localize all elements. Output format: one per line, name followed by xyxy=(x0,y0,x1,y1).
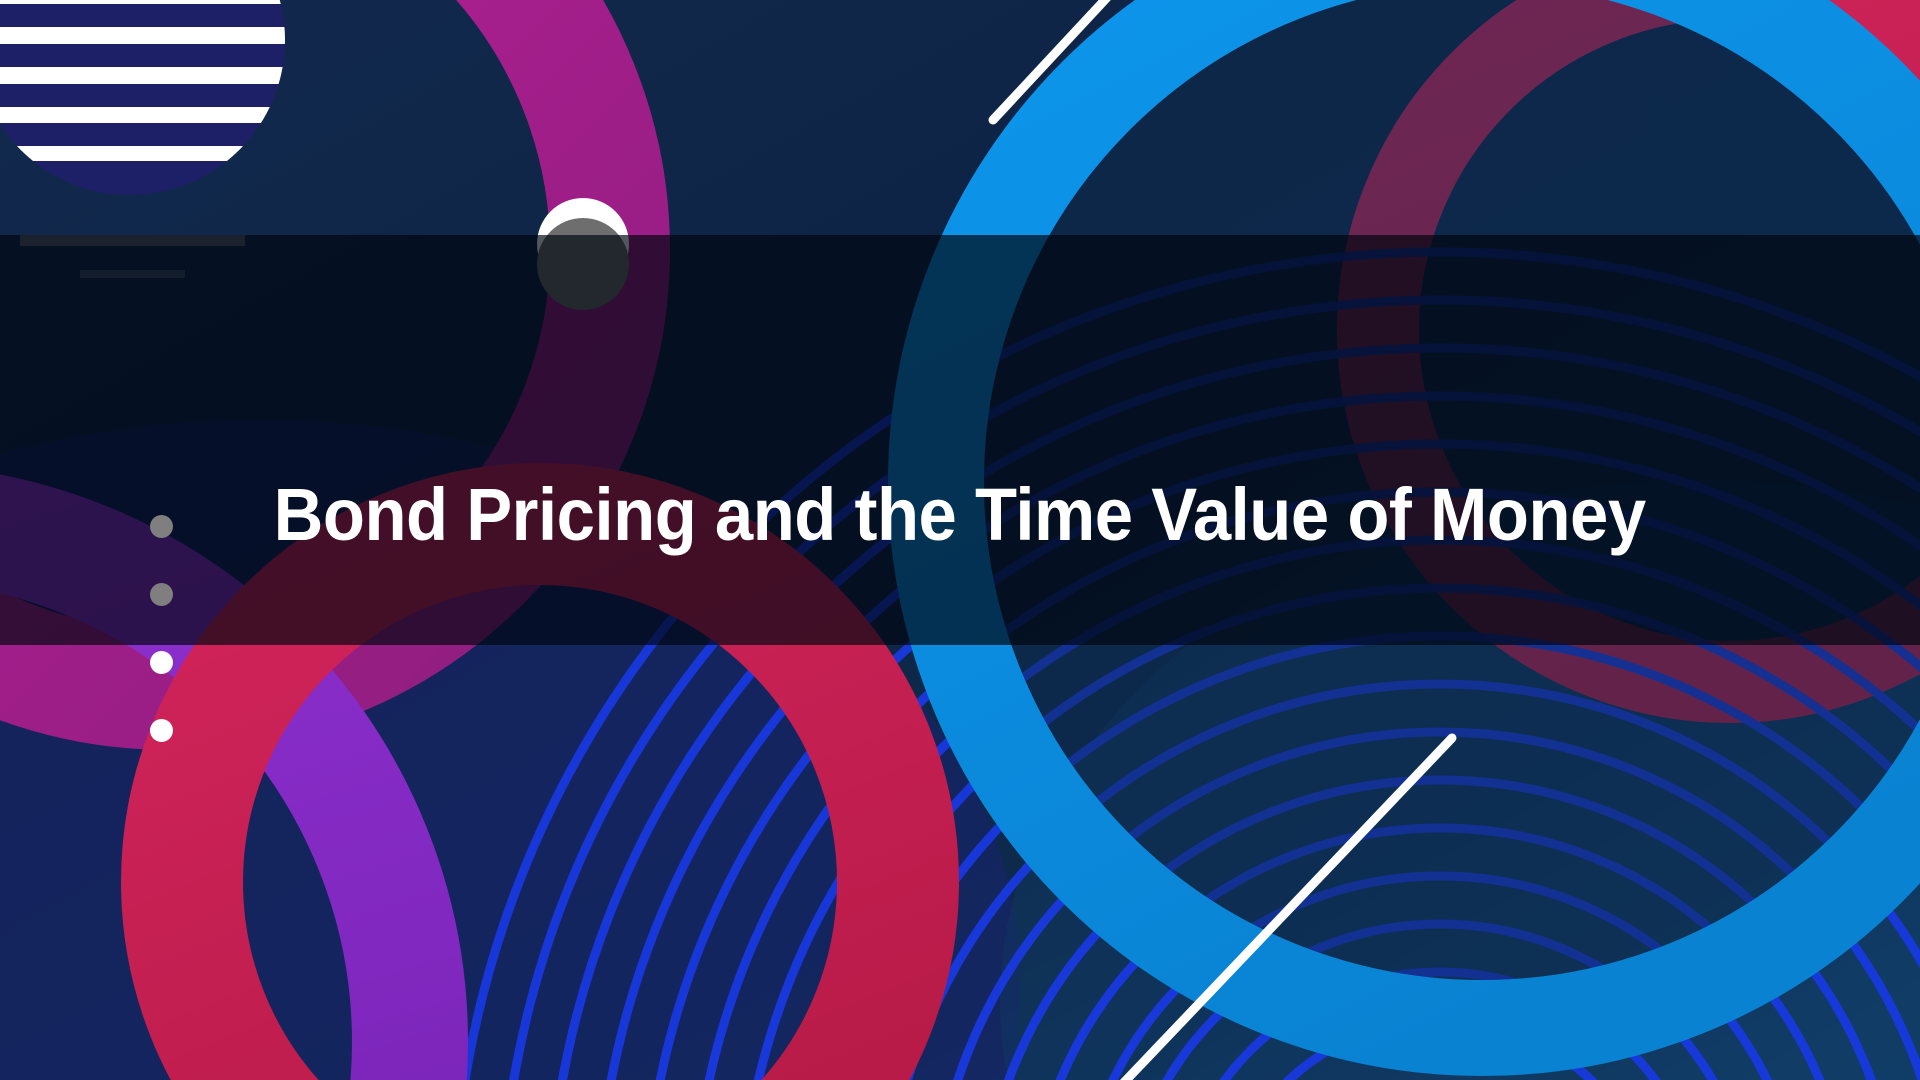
bullet-dot-4[interactable] xyxy=(150,719,173,742)
bullet-dot-1[interactable] xyxy=(150,515,173,538)
overlay-band-rect xyxy=(0,235,1920,645)
presentation-slide: Bond Pricing and the Time Value of Money xyxy=(0,0,1920,1080)
bullet-dot-3[interactable] xyxy=(150,651,173,674)
dark-overlay-band xyxy=(0,0,1920,1080)
bullet-dot-2[interactable] xyxy=(150,583,173,606)
